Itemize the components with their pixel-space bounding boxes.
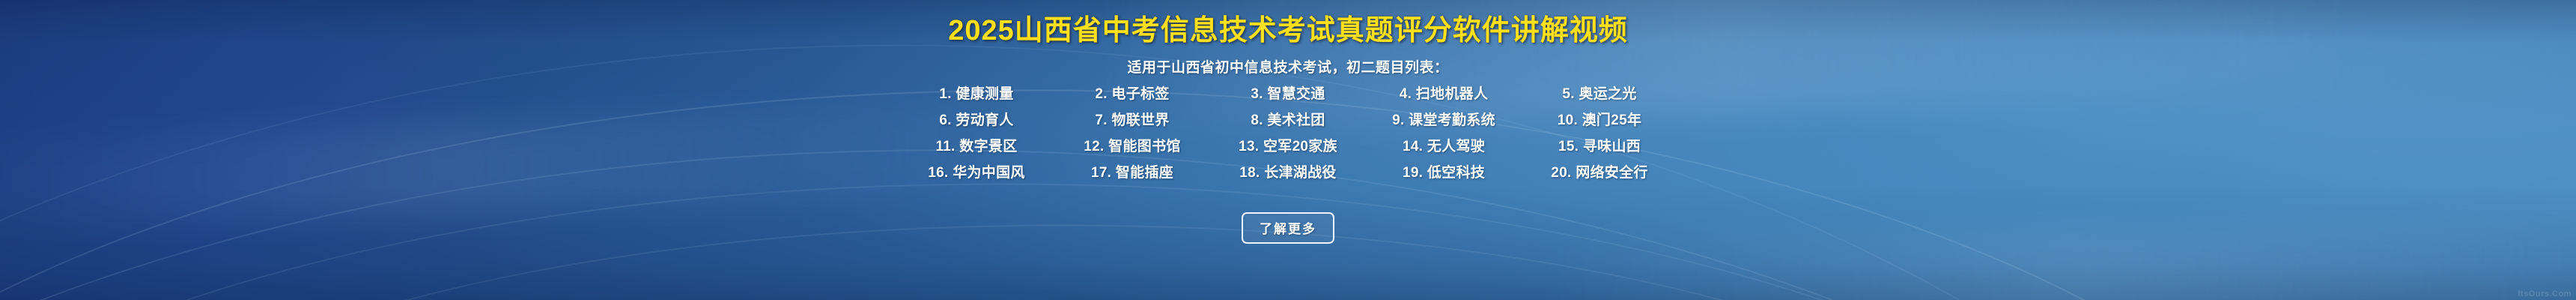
topic-item[interactable]: 9. 课堂考勤系统 [1366,109,1522,129]
cta-container: 了解更多 [0,212,2576,244]
topic-list: 1. 健康测量2. 电子标签3. 智慧交通4. 扫地机器人5. 奥运之光6. 劳… [899,82,1677,181]
topic-item[interactable]: 1. 健康测量 [899,82,1054,103]
topic-item[interactable]: 3. 智慧交通 [1210,82,1366,103]
topic-item[interactable]: 8. 美术社团 [1210,109,1366,129]
topic-item[interactable]: 16. 华为中国风 [899,161,1054,181]
page-title: 2025山西省中考信息技术考试真题评分软件讲解视频 [0,15,2576,48]
watermark: ItsOurs.Com [2518,289,2572,298]
topic-item[interactable]: 5. 奥运之光 [1522,82,1677,103]
topic-item[interactable]: 18. 长津湖战役 [1210,161,1366,181]
topic-item[interactable]: 4. 扫地机器人 [1366,82,1522,103]
topic-item[interactable]: 2. 电子标签 [1054,82,1210,103]
topic-item[interactable]: 17. 智能插座 [1054,161,1210,181]
topic-item[interactable]: 14. 无人驾驶 [1366,135,1522,155]
topic-item[interactable]: 7. 物联世界 [1054,109,1210,129]
topic-item[interactable]: 15. 寻味山西 [1522,135,1677,155]
banner-subtitle: 适用于山西省初中信息技术考试，初二题目列表： [0,56,2576,76]
banner-canvas: 2025山西省中考信息技术考试真题评分软件讲解视频 适用于山西省初中信息技术考试… [0,0,2576,300]
topic-item[interactable]: 19. 低空科技 [1366,161,1522,181]
topic-item[interactable]: 11. 数字景区 [899,135,1054,155]
banner-content: 2025山西省中考信息技术考试真题评分软件讲解视频 适用于山西省初中信息技术考试… [0,0,2576,300]
topic-item[interactable]: 12. 智能图书馆 [1054,135,1210,155]
topic-item[interactable]: 20. 网络安全行 [1522,161,1677,181]
topic-item[interactable]: 10. 澳门25年 [1522,109,1677,129]
topic-item[interactable]: 13. 空军20家族 [1210,135,1366,155]
topic-item[interactable]: 6. 劳动育人 [899,109,1054,129]
learn-more-button[interactable]: 了解更多 [1242,212,1334,244]
